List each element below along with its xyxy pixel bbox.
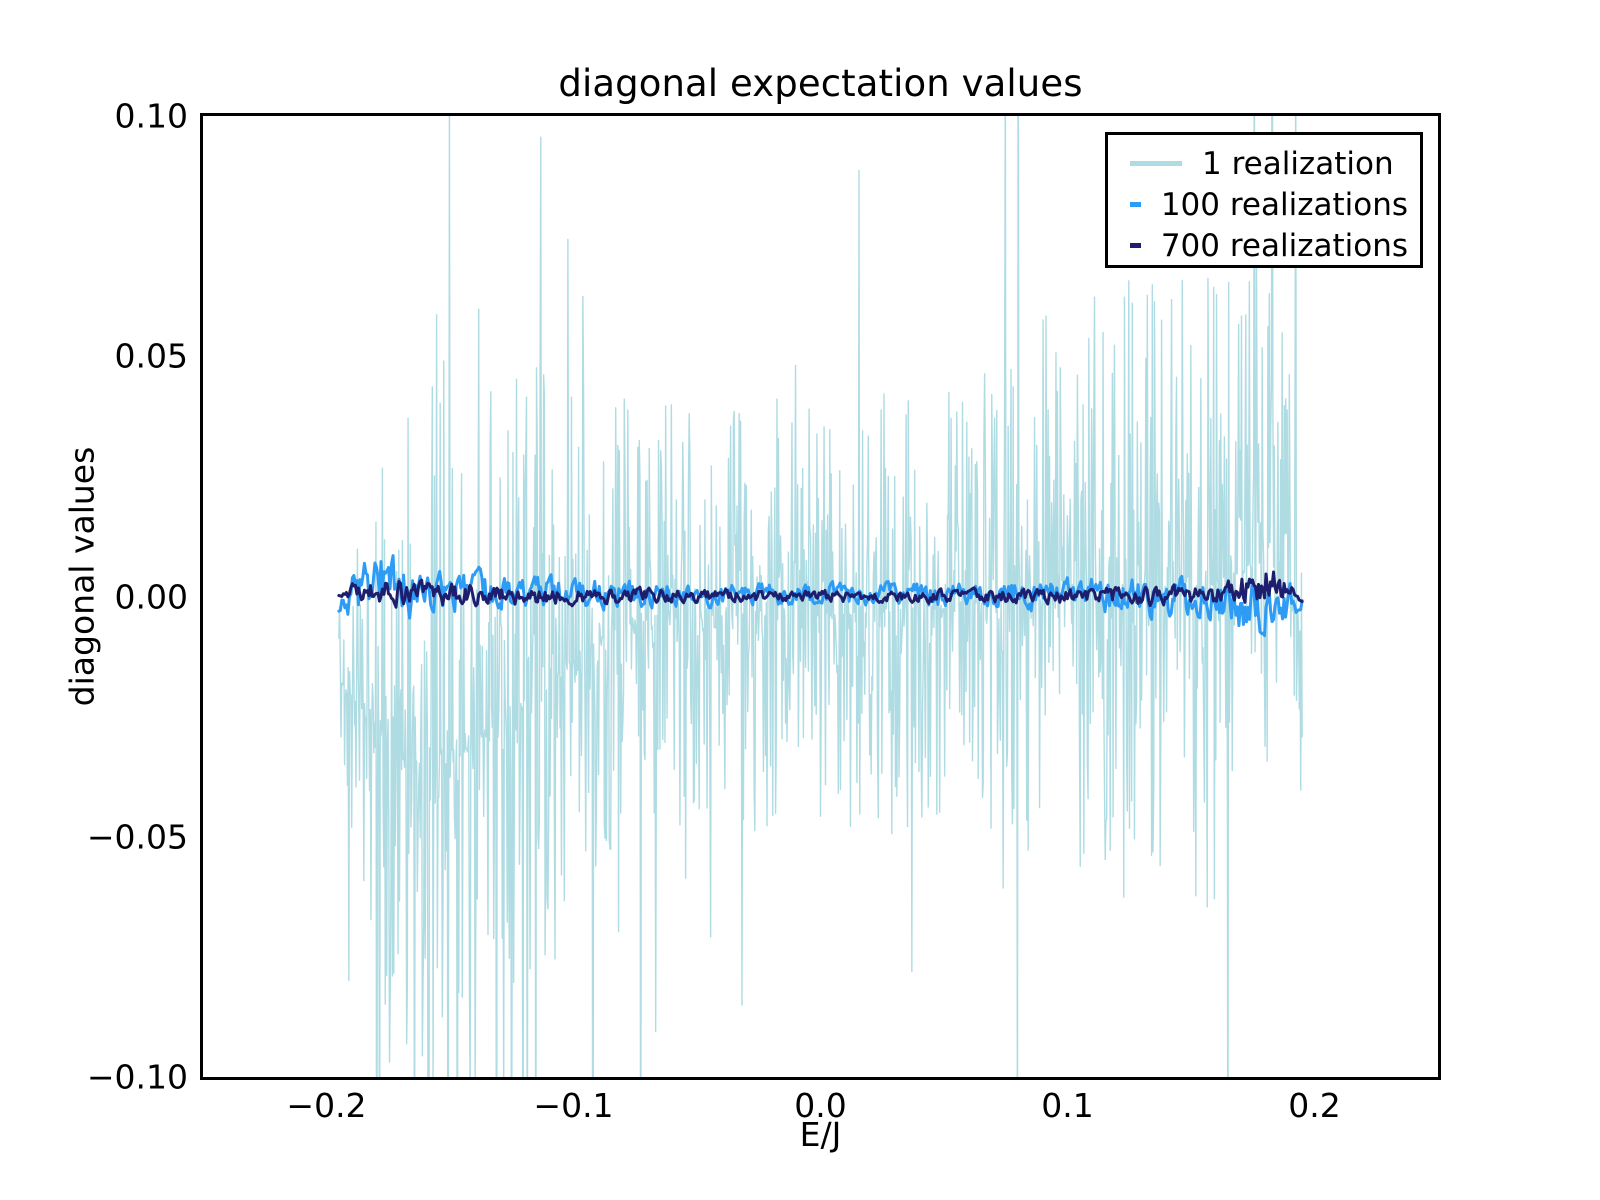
chart-figure: diagonal expectation values diagonal val… xyxy=(0,0,1600,1200)
legend-label: 1 realization xyxy=(1202,146,1394,182)
y-tick-label: 0.05 xyxy=(0,337,188,376)
x-tick-label: 0.0 xyxy=(721,1086,921,1125)
x-tick-label: −0.1 xyxy=(474,1086,674,1125)
page-title: diagonal expectation values xyxy=(200,62,1441,105)
legend: 1 realization100 realizations700 realiza… xyxy=(1105,132,1423,268)
legend-label: 100 realizations xyxy=(1161,187,1408,223)
y-tick-label: 0.10 xyxy=(0,97,188,136)
legend-item[interactable]: 100 realizations xyxy=(1120,184,1408,225)
legend-item[interactable]: 1 realization xyxy=(1120,143,1408,184)
x-tick-label: −0.2 xyxy=(227,1086,427,1125)
legend-swatch-icon xyxy=(1130,202,1141,207)
x-tick-label: 0.1 xyxy=(968,1086,1168,1125)
x-tick-label: 0.2 xyxy=(1215,1086,1415,1125)
legend-item[interactable]: 700 realizations xyxy=(1120,225,1408,266)
y-tick-label: −0.10 xyxy=(0,1058,188,1097)
legend-swatch-icon xyxy=(1130,161,1182,166)
y-tick-label: 0.00 xyxy=(0,577,188,616)
legend-swatch-icon xyxy=(1130,243,1141,248)
y-tick-label: −0.05 xyxy=(0,817,188,856)
legend-label: 700 realizations xyxy=(1161,228,1408,264)
